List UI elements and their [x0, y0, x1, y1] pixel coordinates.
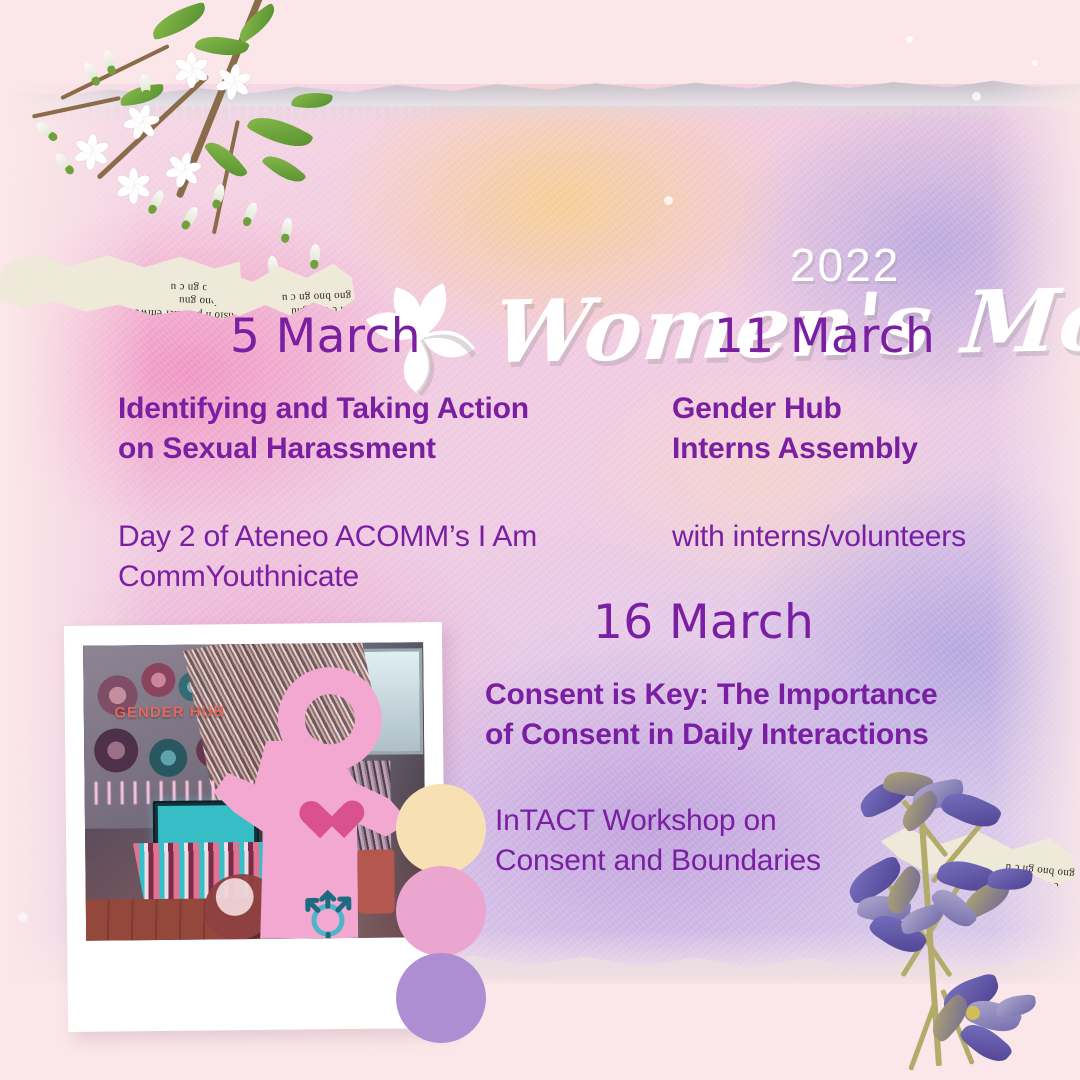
poster-canvas: Women's Month 2022 5 March Identifying a… [0, 0, 1080, 1080]
polaroid-photo-frame: GENDER HUB [64, 622, 446, 1032]
spacer [672, 469, 1072, 517]
event-2-title-line-1: Gender Hub [672, 389, 1072, 429]
photo-image: GENDER HUB [83, 642, 426, 941]
paper-fan [141, 663, 175, 697]
blossom-flower [174, 52, 208, 86]
blossom-flower [74, 134, 108, 168]
leaf [148, 2, 210, 41]
event-block-1: 5 March Identifying and Taking Action on… [118, 312, 638, 597]
blossom-flower [116, 168, 150, 202]
event-1-title-line-2: on Sexual Harassment [118, 429, 638, 469]
speck-dot [1032, 60, 1038, 66]
gender-hub-sign: GENDER HUB [114, 703, 225, 723]
transgender-symbol-icon [296, 878, 359, 941]
event-1-sub-line-1: Day 2 of Ateneo ACOMM’s I Am [118, 517, 638, 557]
event-2-sub-line-1: with interns/volunteers [672, 517, 1072, 557]
person-figure-icon [213, 666, 420, 940]
event-3-title-line-2: of Consent in Daily Interactions [485, 715, 1015, 755]
event-3-title-line-1: Consent is Key: The Importance [485, 675, 1015, 715]
event-1-title-line-1: Identifying and Taking Action [118, 389, 638, 429]
event-2-date: 11 March [714, 312, 1072, 361]
blossom-flower [124, 104, 158, 138]
speck-dot [18, 912, 28, 922]
blossom-flower [166, 152, 200, 186]
speck-dot [906, 36, 913, 43]
gender-hub-sign-line-1: GENDER [114, 704, 184, 722]
paper-fan [149, 739, 187, 777]
flower-center [966, 1006, 980, 1020]
event-1-sub-line-2: CommYouthnicate [118, 557, 638, 597]
palette-circle-pink [396, 866, 486, 956]
event-block-2: 11 March Gender Hub Interns Assembly wit… [672, 312, 1072, 557]
speck-dot [972, 92, 981, 101]
blossom-flower [216, 64, 250, 98]
palette-circle-cream [396, 784, 486, 874]
event-2-title-line-2: Interns Assembly [672, 429, 1072, 469]
event-3-date: 16 March [593, 598, 1015, 647]
palette-circle-purple [396, 953, 486, 1043]
year-label: 2022 [790, 238, 900, 292]
event-1-date: 5 March [230, 312, 638, 361]
spacer [118, 469, 638, 517]
paper-fan [94, 728, 138, 772]
heart-icon [310, 802, 354, 842]
